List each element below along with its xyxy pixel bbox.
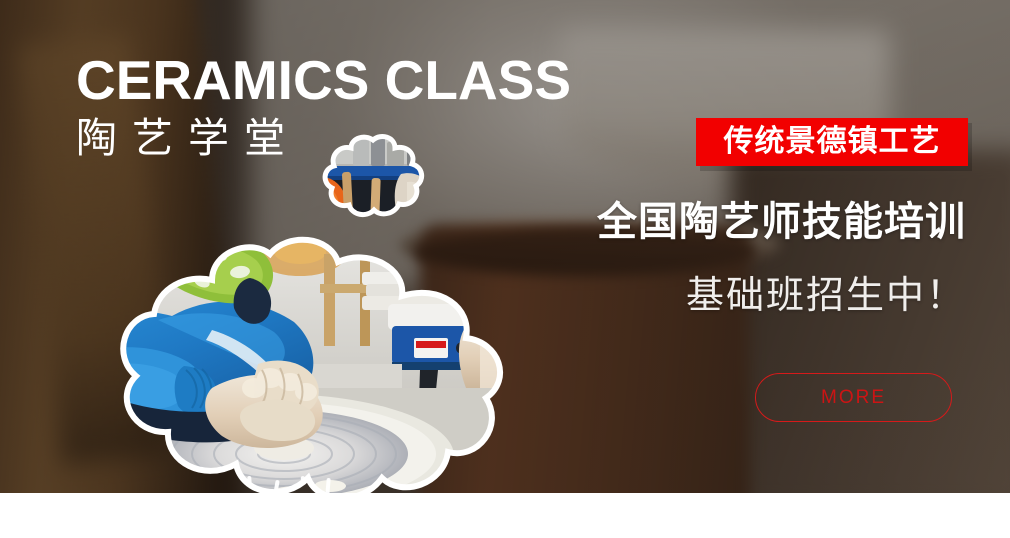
ceramics-class-banner: CERAMICS CLASS 陶艺学堂 传统景德镇工艺 全国陶艺师技能培训 基础…: [0, 0, 1010, 538]
promo-headline-primary: 全国陶艺师技能培训: [597, 200, 966, 244]
promo-headline-secondary: 基础班招生中！: [686, 275, 966, 317]
page-title-chinese: 陶艺学堂: [76, 115, 571, 161]
page-title-english: CERAMICS CLASS: [76, 52, 571, 108]
status-badge-label: 传统景德镇工艺: [724, 127, 941, 157]
headline-block: CERAMICS CLASS 陶艺学堂: [76, 52, 571, 161]
status-badge: 传统景德镇工艺: [696, 118, 968, 166]
cloud-photo-large: [62, 238, 524, 506]
more-button[interactable]: MORE: [755, 373, 952, 422]
bottom-white-band: [0, 493, 1010, 538]
